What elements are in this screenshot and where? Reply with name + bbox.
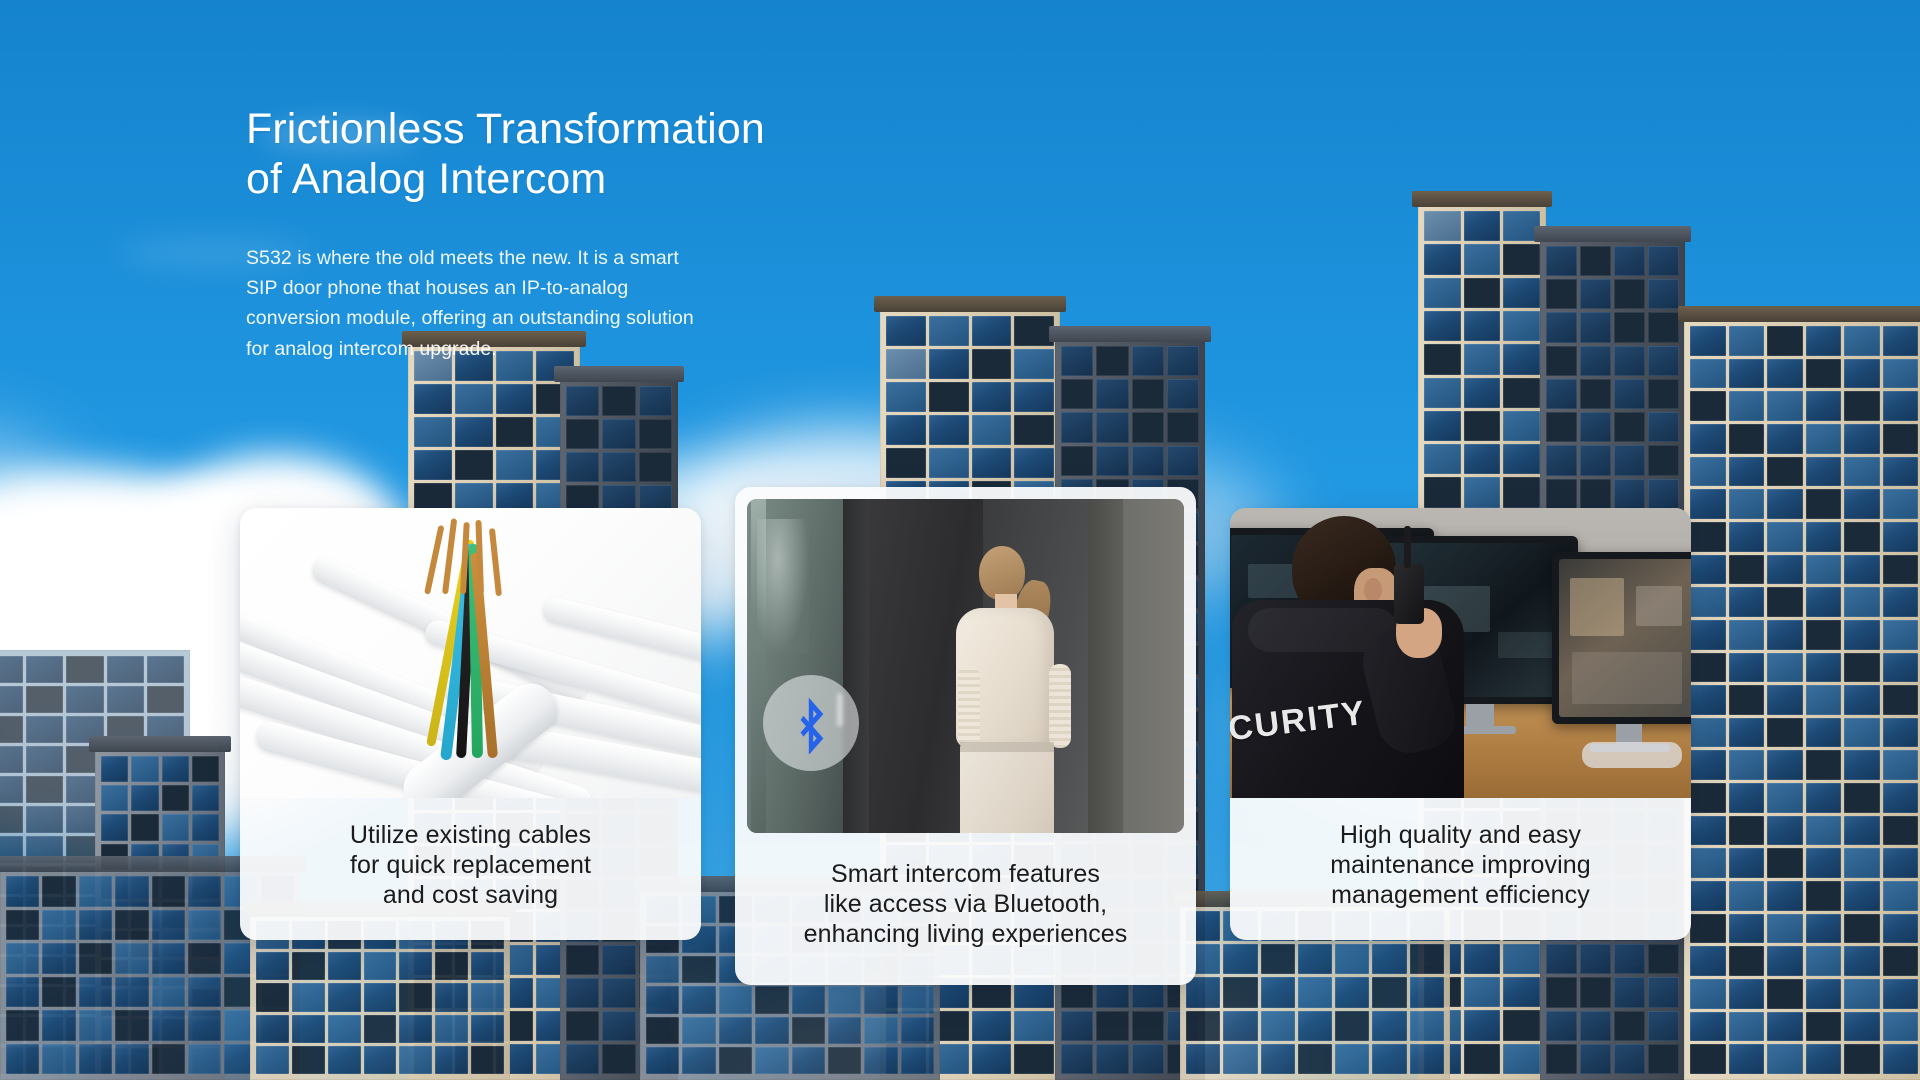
card-caption-security: High quality and easy maintenance improv… (1230, 798, 1691, 940)
card-caption-bluetooth: Smart intercom features like access via … (747, 833, 1184, 973)
hero-description: S532 is where the old meets the new. It … (246, 243, 846, 365)
feature-card-cables[interactable]: Utilize existing cables for quick replac… (240, 508, 701, 940)
copper-tip (489, 528, 502, 596)
person-figure (922, 546, 1114, 833)
card-caption-cables: Utilize existing cables for quick replac… (240, 798, 701, 940)
feature-card-bluetooth[interactable]: Smart intercom features like access via … (735, 487, 1196, 985)
card-image-door (747, 499, 1184, 833)
security-guard-figure: CURITY (1230, 516, 1504, 798)
hero-banner: Frictionless Transformation of Analog In… (0, 0, 1920, 1080)
building (1684, 320, 1920, 1080)
hero-copy: Frictionless Transformation of Analog In… (246, 104, 846, 364)
copper-tip (424, 525, 444, 595)
card-image-security: CURITY (1230, 508, 1691, 798)
walkie-talkie (1394, 564, 1424, 624)
mouse-pad (1582, 742, 1682, 768)
page-title: Frictionless Transformation of Analog In… (246, 104, 846, 205)
copper-tip (442, 518, 457, 594)
bluetooth-icon (789, 692, 833, 754)
feature-card-security[interactable]: CURITY High quality and easy maintenance… (1230, 508, 1691, 940)
monitor (1552, 552, 1691, 724)
bluetooth-badge[interactable] (763, 675, 859, 771)
feature-card-list: Utilize existing cables for quick replac… (240, 508, 1691, 985)
copper-tip (475, 520, 484, 594)
card-image-cables (240, 508, 701, 798)
